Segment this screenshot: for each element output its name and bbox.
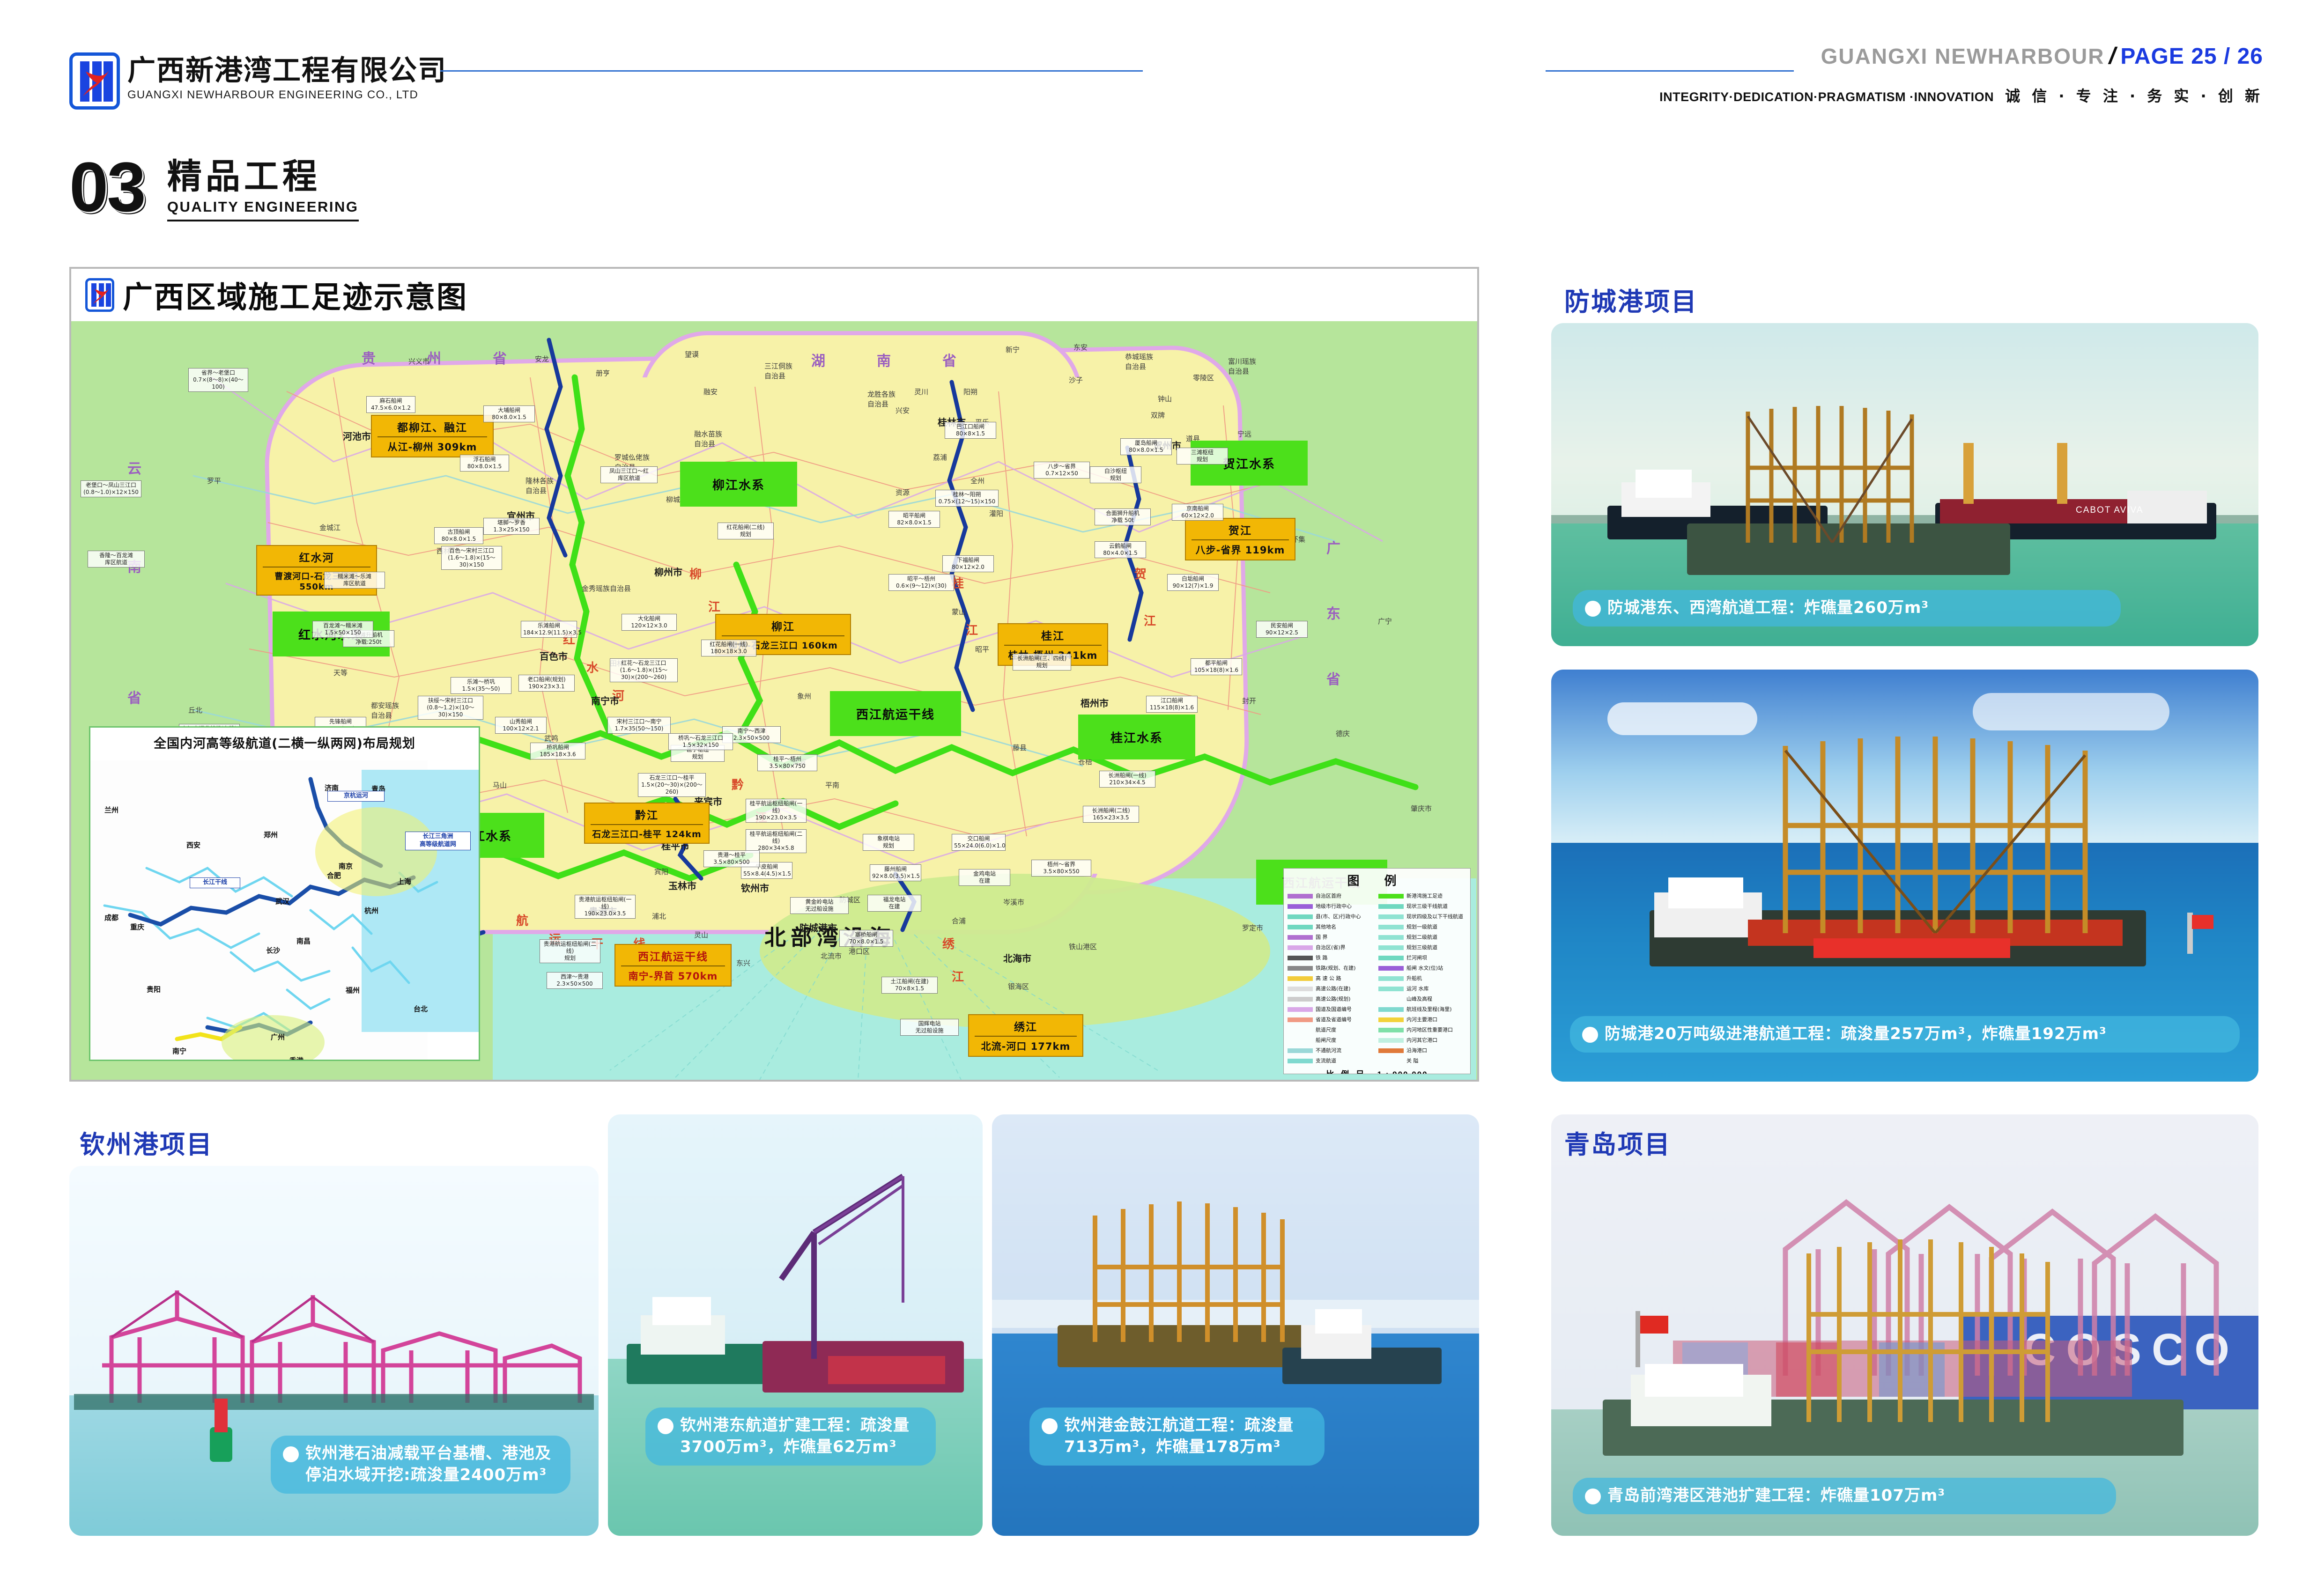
legend-label: 关 隘 xyxy=(1406,1057,1419,1064)
section-number: 03 xyxy=(69,155,145,219)
caption-fangchenggang-1: 防城港东、西湾航道工程：炸礁量260万m³ xyxy=(1573,590,2121,626)
caption-qinzhou-1: 钦州港石油减载平台基槽、港池及停泊水域开挖:疏浚量2400万m³ xyxy=(271,1436,570,1494)
legend-symbol-icon xyxy=(1378,1038,1404,1043)
legend-row: 内河主要港口 xyxy=(1378,1014,1466,1024)
legend-label: 航班线及里程(海里) xyxy=(1406,1005,1452,1013)
scale-label: 比 例 尺 xyxy=(1326,1070,1366,1074)
bullet-icon xyxy=(283,1446,299,1462)
map-logo-icon xyxy=(85,278,114,312)
map-yellow-box-title: 柳江 xyxy=(722,618,844,636)
legend-label: 航道尺度 xyxy=(1316,1026,1336,1033)
map-green-box: 西江航运干线 xyxy=(830,691,961,736)
legend-label: 高速公路(规划) xyxy=(1316,995,1351,1002)
legend-symbol-icon xyxy=(1378,894,1404,899)
legend-symbol-icon xyxy=(1378,935,1404,940)
project-title-qinzhou: 钦州港项目 xyxy=(80,1124,213,1161)
bullet-icon xyxy=(1585,1489,1601,1504)
map-yellow-box-desc: 石龙三江口-桂平 124km xyxy=(591,825,703,840)
legend-label: 其他地名 xyxy=(1316,923,1336,930)
legend-row: 升船机 xyxy=(1378,973,1466,983)
legend-label: 高 速 公 路 xyxy=(1316,974,1341,982)
logo-zigzag-icon xyxy=(81,69,113,98)
legend-symbol-icon xyxy=(1288,1007,1313,1012)
legend-label: 内河地区性重要港口 xyxy=(1406,1026,1453,1033)
legend-row: 沿海港口 xyxy=(1378,1045,1466,1055)
legend-symbol-icon xyxy=(1378,1028,1404,1032)
legend-label: 拦河闸坝 xyxy=(1406,954,1427,961)
legend-symbol-icon xyxy=(1288,945,1313,950)
legend-row: 自治区首府 xyxy=(1288,891,1376,901)
caption-qingdao: 青岛前湾港区港池扩建工程：炸礁量107万m³ xyxy=(1573,1478,2116,1514)
legend-column-right: 新港湾施工足迹现状三级干线航道现状四级及以下干线航道规划一级航道规划二级航道规划… xyxy=(1378,891,1466,1066)
legend-row: 新港湾施工足迹 xyxy=(1378,891,1466,901)
project-title-qingdao: 青岛项目 xyxy=(1564,1124,1671,1161)
legend-symbol-icon xyxy=(1378,996,1404,1002)
legend-row: 其他地名 xyxy=(1288,921,1376,932)
legend-symbol-icon xyxy=(1378,976,1404,981)
legend-label: 船闸 水文(位)站 xyxy=(1406,964,1443,972)
legend-symbol-icon xyxy=(1288,1059,1313,1063)
map-yellow-box-title: 西江航运干线 xyxy=(621,948,725,966)
legend-symbol-icon xyxy=(1288,987,1313,991)
legend-column-left: 自治区首府地级市行政中心县(市、区)行政中心其他地名国 界自治区(省)界铁 路铁… xyxy=(1288,891,1376,1066)
ship-name-label: CABOT AVIVA xyxy=(2076,505,2144,516)
legend-symbol-icon xyxy=(1378,987,1404,991)
legend-label: 规划二级航道 xyxy=(1406,933,1437,941)
map-yellow-box-title: 红水河 xyxy=(263,549,370,567)
legend-label: 不通航河流 xyxy=(1316,1046,1341,1054)
legend-symbol-icon xyxy=(1288,904,1313,909)
map-yellow-box-title: 贺江 xyxy=(1192,522,1289,540)
legend-symbol-icon xyxy=(1378,1007,1404,1012)
values-en: INTEGRITY·DEDICATION·PRAGMATISM ·INNOVAT… xyxy=(1659,90,1994,104)
legend-row: 高 速 公 路 xyxy=(1288,973,1376,983)
legend-title: 图 例 xyxy=(1288,871,1466,889)
legend-scale: 比 例 尺 1 : 900 000 0 9 18 27 36 45公里 图上1厘… xyxy=(1288,1068,1466,1074)
map-panel: 广西区域施工足迹示意图 xyxy=(69,267,1479,1082)
legend-row: 规划一级航道 xyxy=(1378,921,1466,932)
legend-symbol-icon xyxy=(1378,904,1404,909)
map-province-hunan2: 南 xyxy=(877,349,897,370)
photo-qinzhou-2: 钦州港东航道扩建工程：疏浚量3700万m³，炸礁量62万m³ xyxy=(608,1114,983,1536)
legend-row: 地级市行政中心 xyxy=(1288,901,1376,911)
inset-note-yangtze-trunk: 长江干线 xyxy=(190,877,240,888)
map-yellow-box-title: 黔江 xyxy=(591,806,703,825)
legend-symbol-icon xyxy=(1288,1027,1313,1032)
page-number: PAGE 25 / 26 xyxy=(2120,44,2263,69)
map-green-box: 桂江水系 xyxy=(1078,715,1195,759)
legend-row: 航道尺度 xyxy=(1288,1024,1376,1035)
header-divider-left xyxy=(440,70,1143,72)
legend-label: 国 界 xyxy=(1316,933,1328,941)
legend-label: 沿海港口 xyxy=(1406,1046,1427,1054)
map-yellow-box-desc: 南宁-界首 570km xyxy=(621,966,725,983)
legend-symbol-icon xyxy=(1288,1037,1313,1043)
legend-row: 省道及省道编号 xyxy=(1288,1014,1376,1024)
legend-symbol-icon xyxy=(1378,925,1404,929)
legend-row: 国道及国道编号 xyxy=(1288,1004,1376,1014)
map-yellow-box-desc: 从江-柳州 309km xyxy=(377,437,487,454)
legend-label: 新港湾施工足迹 xyxy=(1406,892,1443,899)
legend-symbol-icon xyxy=(1378,1017,1404,1022)
legend-label: 规划三级航道 xyxy=(1406,943,1437,951)
legend-label: 国道及国道编号 xyxy=(1316,1005,1352,1013)
map-province-hunan: 湖 xyxy=(811,349,832,370)
map-title-bar: 广西区域施工足迹示意图 xyxy=(71,269,1477,321)
legend-label: 铁路(规划、在建) xyxy=(1316,964,1356,972)
legend-label: 规划一级航道 xyxy=(1406,923,1437,930)
legend-row: 船闸尺度 xyxy=(1288,1035,1376,1045)
legend-symbol-icon xyxy=(1378,956,1404,960)
legend-symbol-icon xyxy=(1378,1048,1404,1053)
legend-row: 运河 水库 xyxy=(1378,983,1466,994)
legend-symbol-icon xyxy=(1288,1017,1313,1022)
map-province-guangdong2: 东 xyxy=(1326,602,1347,623)
legend-row: 拦河闸坝 xyxy=(1378,952,1466,963)
legend-row: 规划二级航道 xyxy=(1378,932,1466,942)
legend-row: 铁路(规划、在建) xyxy=(1288,963,1376,973)
map-province-guizhou3: 省 xyxy=(493,347,513,368)
legend-symbol-icon xyxy=(1288,997,1313,1002)
legend-label: 支流航道 xyxy=(1316,1057,1336,1064)
inset-note-yangtze-delta: 长江三角洲高等级航道网 xyxy=(405,832,471,850)
map-yellow-box-desc: 八步-省界 119km xyxy=(1192,540,1289,557)
map-yellow-box-desc: 北流-河口 177km xyxy=(975,1037,1077,1053)
photo-scene: COSCO xyxy=(1551,1114,2258,1536)
map-title: 广西区域施工足迹示意图 xyxy=(123,273,468,317)
legend-row: 国 界 xyxy=(1288,932,1376,942)
legend-symbol-icon xyxy=(1288,966,1313,971)
legend-label: 内河主要港口 xyxy=(1406,1016,1437,1023)
section-title-en: QUALITY ENGINEERING xyxy=(167,199,359,221)
photo-qinzhou-1: 钦州港石油减载平台基槽、港池及停泊水域开挖:疏浚量2400万m³ xyxy=(69,1166,599,1536)
company-name-cn: 广西新港湾工程有限公司 xyxy=(127,56,447,86)
inset-note-jinghang-canal: 京杭运河 xyxy=(327,791,385,802)
legend-row: 内河其它港口 xyxy=(1378,1035,1466,1045)
map-yellow-box-title: 桂江 xyxy=(1004,627,1102,646)
map-province-guangdong: 广 xyxy=(1326,537,1347,557)
legend-row: 航班线及里程(海里) xyxy=(1378,1004,1466,1014)
map-province-guizhou2: 州 xyxy=(427,347,448,368)
header-right-block: GUANGXI NEWHARBOUR / PAGE 25 / 26 INTEGR… xyxy=(1659,42,2263,106)
legend-row: 自治区(省)界 xyxy=(1288,942,1376,952)
legend-row: 高速公路(规划) xyxy=(1288,994,1376,1004)
legend-row: 高速公路(在建) xyxy=(1288,983,1376,994)
legend-row: 支流航道 xyxy=(1288,1055,1376,1066)
values-cn: 诚 信 · 专 注 · 务 实 · 创 新 xyxy=(2005,84,2263,106)
slash-separator: / xyxy=(2106,42,2118,69)
legend-label: 高速公路(在建) xyxy=(1316,985,1351,992)
legend-row: 现状四级及以下干线航道 xyxy=(1378,911,1466,921)
legend-label: 省道及省道编号 xyxy=(1316,1016,1352,1023)
map-province-hunan3: 省 xyxy=(942,349,963,370)
map-green-box: 柳江水系 xyxy=(680,462,797,507)
legend-row: 关 隘 xyxy=(1378,1055,1466,1066)
legend-row: 县(市、区)行政中心 xyxy=(1288,911,1376,921)
legend-label: 县(市、区)行政中心 xyxy=(1316,913,1361,920)
legend-label: 现状四级及以下干线航道 xyxy=(1406,913,1463,920)
photo-scene xyxy=(608,1114,983,1536)
photo-fangchenggang-1: CABOT AVIVA 防城港东、西湾航道工程：炸礁量260万m³ xyxy=(1551,323,2258,646)
project-title-fangchenggang: 防城港项目 xyxy=(1564,281,1698,318)
map-province-yunnan: 云 xyxy=(127,457,148,478)
legend-label: 山峰及高程 xyxy=(1406,995,1432,1002)
legend-label: 现状三级干线航道 xyxy=(1406,902,1448,910)
legend-symbol-icon xyxy=(1288,914,1313,919)
legend-symbol-icon xyxy=(1378,966,1404,971)
legend-symbol-icon xyxy=(1288,894,1313,899)
legend-symbol-icon xyxy=(1288,976,1313,981)
bullet-icon xyxy=(1582,1027,1598,1043)
company-identity: 广西新港湾工程有限公司 GUANGXI NEWHARBOUR ENGINEERI… xyxy=(127,56,447,102)
bullet-icon xyxy=(1042,1418,1058,1434)
page-header: 广西新港湾工程有限公司 GUANGXI NEWHARBOUR ENGINEERI… xyxy=(0,0,2324,140)
section-title: 03 精品工程 QUALITY ENGINEERING xyxy=(69,155,359,221)
legend-row: 规划三级航道 xyxy=(1378,942,1466,952)
legend-label: 船闸尺度 xyxy=(1316,1036,1336,1044)
legend-label: 运河 水库 xyxy=(1406,985,1429,992)
caption-fangchenggang-2: 防城港20万吨级进港航道工程：疏浚量257万m³，炸礁量192万m³ xyxy=(1570,1016,2240,1053)
photo-qingdao: COSCO xyxy=(1551,1114,2258,1536)
map-legend: 图 例 自治区首府地级市行政中心县(市、区)行政中心其他地名国 界自治区(省)界… xyxy=(1283,868,1471,1074)
legend-label: 铁 路 xyxy=(1316,954,1328,961)
legend-row: 现状三级干线航道 xyxy=(1378,901,1466,911)
legend-label: 内河其它港口 xyxy=(1406,1036,1437,1044)
legend-row: 铁 路 xyxy=(1288,952,1376,963)
legend-row: 船闸 水文(位)站 xyxy=(1378,963,1466,973)
photo-scene xyxy=(992,1114,1479,1536)
map-province-guangdong3: 省 xyxy=(1326,668,1347,688)
map-province-guizhou: 贵 xyxy=(362,347,382,368)
brand-label: GUANGXI NEWHARBOUR xyxy=(1821,44,2105,69)
legend-symbol-icon xyxy=(1288,935,1313,940)
legend-symbol-icon xyxy=(1378,945,1404,950)
legend-symbol-icon xyxy=(1378,1058,1404,1063)
company-logo-icon xyxy=(69,52,120,110)
scale-value: 1 : 900 000 xyxy=(1377,1070,1428,1074)
bullet-icon xyxy=(658,1418,674,1434)
map-canvas: 云 南 省 贵 州 省 湖 南 省 广 东 省 北部湾沿海 红 水 河 柳 江 … xyxy=(71,321,1477,1081)
inset-map: 全国内河高等级航道(二横一纵两网)布局规划 xyxy=(89,726,480,1061)
legend-label: 自治区首府 xyxy=(1316,892,1341,899)
legend-row: 内河地区性重要港口 xyxy=(1378,1024,1466,1035)
map-yellow-box-title: 绣江 xyxy=(975,1018,1077,1037)
legend-symbol-icon xyxy=(1378,914,1404,919)
section-title-cn: 精品工程 xyxy=(167,159,359,194)
legend-row: 不通航河流 xyxy=(1288,1045,1376,1055)
legend-label: 升船机 xyxy=(1406,974,1422,982)
photo-fangchenggang-2: 防城港20万吨级进港航道工程：疏浚量257万m³，炸礁量192万m³ xyxy=(1551,670,2258,1082)
bullet-icon xyxy=(1585,601,1601,617)
caption-qinzhou-3: 钦州港金鼓江航道工程：疏浚量713万m³，炸礁量178万m³ xyxy=(1029,1408,1325,1466)
legend-label: 地级市行政中心 xyxy=(1316,902,1352,910)
photo-qinzhou-3: 钦州港金鼓江航道工程：疏浚量713万m³，炸礁量178万m³ xyxy=(992,1114,1479,1536)
company-name-en: GUANGXI NEWHARBOUR ENGINEERING CO., LTD xyxy=(127,88,447,102)
caption-qinzhou-2: 钦州港东航道扩建工程：疏浚量3700万m³，炸礁量62万m³ xyxy=(645,1408,936,1466)
map-yellow-box-title: 都柳江、融江 xyxy=(377,419,487,437)
legend-symbol-icon xyxy=(1288,956,1313,960)
legend-symbol-icon xyxy=(1288,1048,1313,1053)
legend-label: 自治区(省)界 xyxy=(1316,943,1346,951)
map-province-yunnan3: 省 xyxy=(127,686,148,707)
legend-symbol-icon xyxy=(1288,925,1313,929)
legend-row: 山峰及高程 xyxy=(1378,994,1466,1004)
